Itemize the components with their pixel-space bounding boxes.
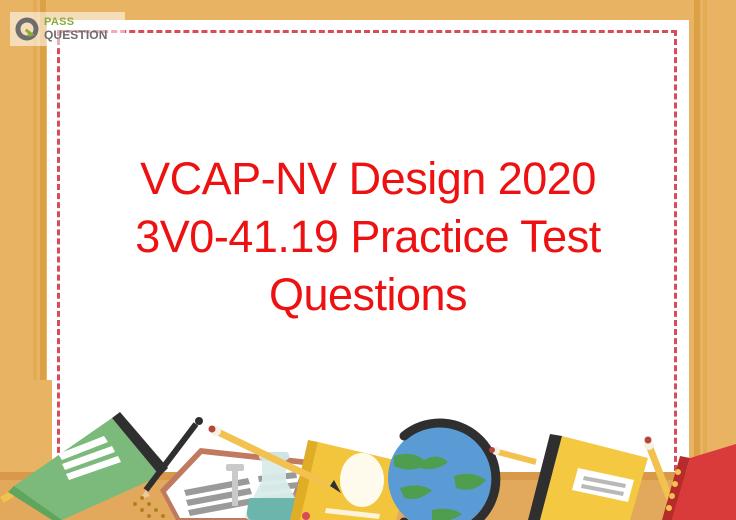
- title-line-1: VCAP-NV Design 2020: [60, 150, 676, 208]
- brand-line-2: QUESTION: [44, 29, 107, 41]
- poster-canvas: VCAP-NV Design 2020 3V0-41.19 Practice T…: [0, 0, 736, 520]
- brand-logo[interactable]: PASS QUESTION: [10, 12, 125, 46]
- red-spiral-book: [662, 444, 736, 520]
- globe: [388, 423, 496, 520]
- title-line-3: Questions: [60, 266, 676, 324]
- title-line-2: 3V0-41.19 Practice Test: [60, 208, 676, 266]
- q-circle-logo-icon: [14, 16, 40, 42]
- left-background-wedge: [0, 380, 52, 472]
- brand-logo-text: PASS QUESTION: [44, 17, 107, 41]
- school-supplies-illustration: [0, 380, 736, 520]
- brand-line-1: PASS: [44, 17, 107, 28]
- clip-spine: [232, 466, 238, 506]
- yellow-notebook-right: [528, 434, 648, 520]
- page-title: VCAP-NV Design 2020 3V0-41.19 Practice T…: [60, 150, 676, 324]
